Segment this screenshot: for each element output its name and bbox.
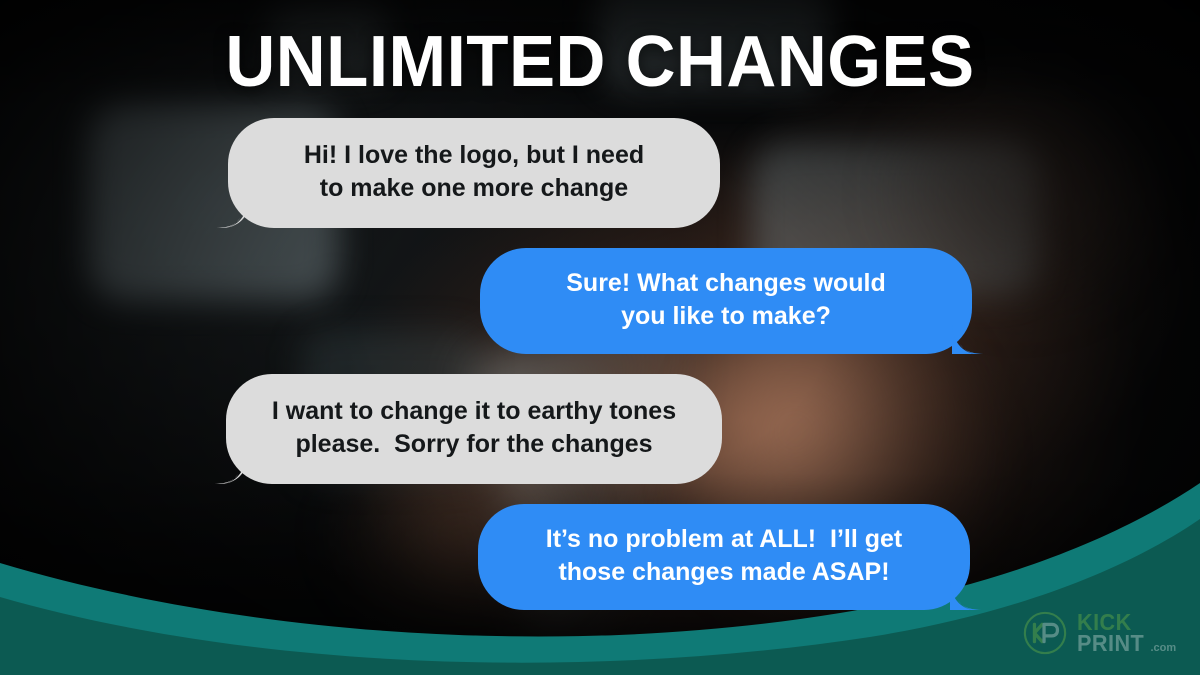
- brand-logo: KICK PRINT .com: [1022, 606, 1188, 660]
- brand-print-text: PRINT: [1077, 633, 1144, 654]
- brand-com-text: .com: [1151, 643, 1177, 653]
- chat-bubble-text: It’s no problem at ALL! I’ll get those c…: [546, 523, 902, 589]
- page-title: UNLIMITED CHANGES: [24, 26, 1176, 99]
- chat-bubble-text: Sure! What changes would you like to mak…: [566, 267, 885, 333]
- chat-bubble-text: Hi! I love the logo, but I need to make …: [304, 139, 644, 205]
- chat-bubble-incoming: Hi! I love the logo, but I need to make …: [228, 118, 720, 228]
- brand-wordmark: KICK PRINT .com: [1077, 612, 1176, 654]
- brand-print-row: PRINT .com: [1077, 633, 1176, 654]
- chat-bubble-incoming: I want to change it to earthy tones plea…: [226, 374, 722, 484]
- kp-monogram-icon: [1022, 610, 1068, 656]
- chat-bubble-outgoing: Sure! What changes would you like to mak…: [480, 248, 972, 354]
- chat-bubble-text: I want to change it to earthy tones plea…: [272, 395, 676, 461]
- promo-graphic: UNLIMITED CHANGES Hi! I love the logo, b…: [0, 0, 1200, 675]
- chat-bubble-outgoing: It’s no problem at ALL! I’ll get those c…: [478, 504, 970, 610]
